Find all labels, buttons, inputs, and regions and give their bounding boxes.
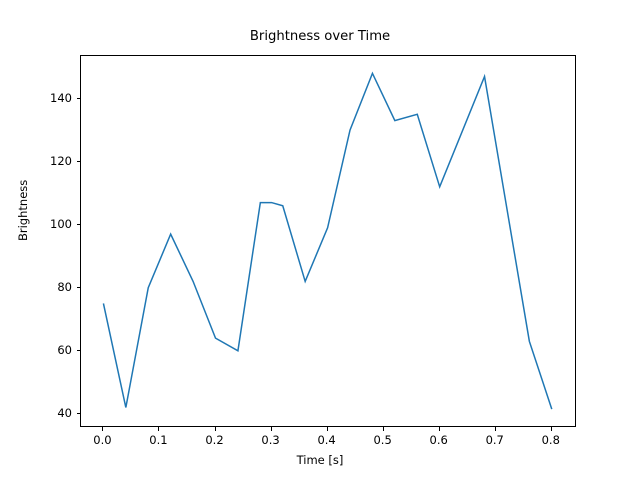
x-tick-label: 0.1 bbox=[128, 433, 188, 447]
y-tick-label: 60 bbox=[12, 343, 72, 357]
x-tick-label: 0.8 bbox=[521, 433, 581, 447]
chart-title: Brightness over Time bbox=[0, 29, 640, 44]
x-tick-label: 0.2 bbox=[185, 433, 245, 447]
x-tick-label: 0.3 bbox=[241, 433, 301, 447]
x-tick-label: 0.5 bbox=[353, 433, 413, 447]
y-tick-label: 120 bbox=[12, 154, 72, 168]
line-plot-svg bbox=[81, 56, 577, 428]
x-axis-label: Time [s] bbox=[0, 453, 640, 467]
y-tick-label: 80 bbox=[12, 280, 72, 294]
y-axis-label: Brightness bbox=[16, 180, 30, 241]
y-tick-label: 40 bbox=[12, 406, 72, 420]
plot-axes bbox=[80, 55, 576, 427]
brightness-line-series bbox=[103, 73, 551, 409]
x-tick-label: 0.7 bbox=[465, 433, 525, 447]
figure-canvas: Brightness over Time Brightness Time [s]… bbox=[0, 0, 640, 480]
x-tick-label: 0.0 bbox=[72, 433, 132, 447]
x-tick-label: 0.4 bbox=[297, 433, 357, 447]
x-tick-label: 0.6 bbox=[409, 433, 469, 447]
y-tick-label: 100 bbox=[12, 217, 72, 231]
y-tick-label: 140 bbox=[12, 91, 72, 105]
